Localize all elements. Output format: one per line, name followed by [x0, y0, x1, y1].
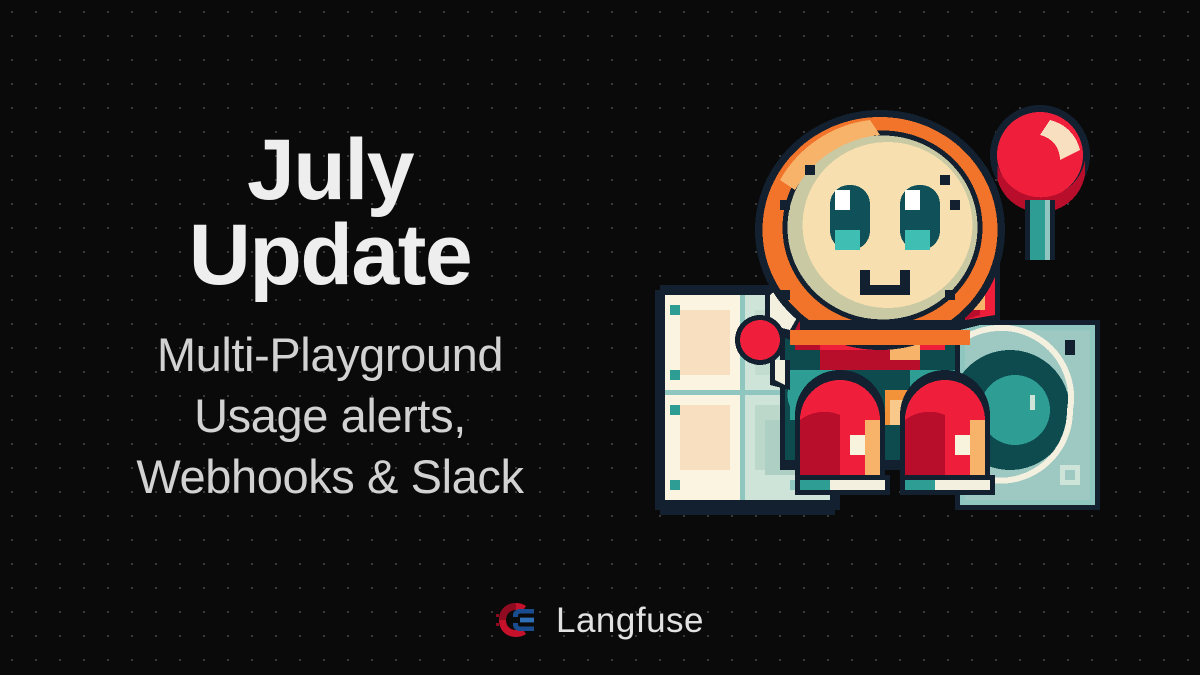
lollipop — [990, 105, 1090, 260]
brand-footer: Langfuse — [0, 600, 1200, 640]
robot-helmet — [755, 110, 1005, 350]
page-title: July Update — [0, 128, 660, 298]
pixel-art-robot-illustration — [640, 100, 1140, 530]
hero-text-block: July Update Multi-Playground Usage alert… — [0, 128, 660, 508]
poster-canvas: July Update Multi-Playground Usage alert… — [0, 0, 1200, 675]
brand-name: Langfuse — [556, 603, 704, 638]
page-subtitle: Multi-Playground Usage alerts, Webhooks … — [0, 324, 660, 507]
langfuse-logo-icon — [496, 600, 538, 640]
